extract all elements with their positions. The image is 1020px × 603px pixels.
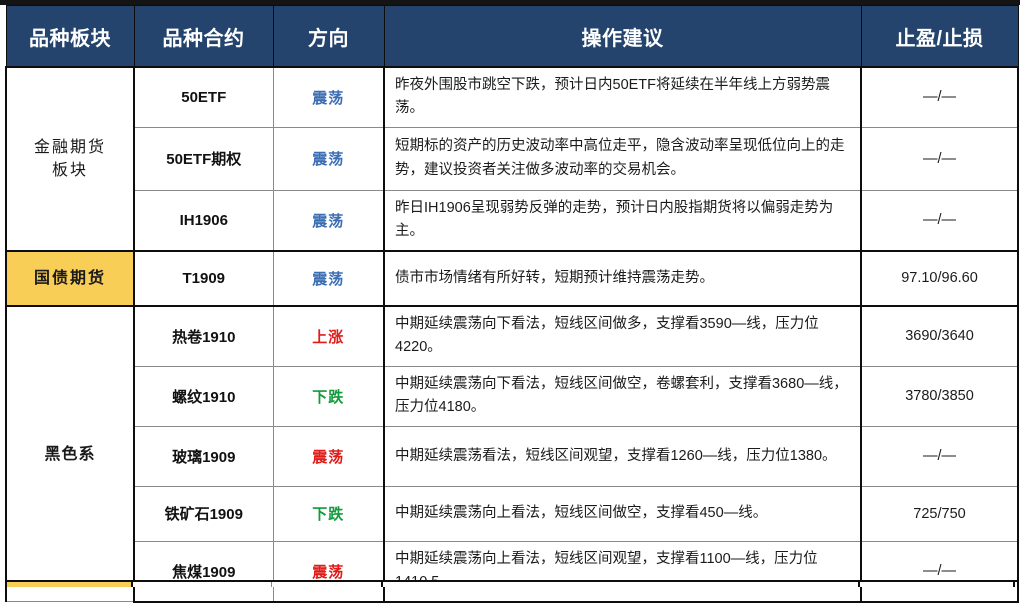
next-section-advice-cell	[383, 582, 860, 587]
table-header: 品种板块 品种合约 方向 操作建议 止盈/止损	[6, 6, 1018, 68]
table-row: 国债期货T1909震荡债市市场情绪有所好转，短期预计维持震荡走势。97.10/9…	[6, 251, 1018, 306]
table-row: 焦煤1909震荡中期延续震荡向上看法，短线区间观望，支撑看1100—线，压力位1…	[6, 541, 1018, 601]
advice-cell: 中期延续震荡向下看法，短线区间做空，卷螺套利，支撑看3680—线，压力位4180…	[384, 366, 861, 426]
sector-label-line-2: 板块	[8, 159, 132, 182]
contract-cell: T1909	[134, 251, 273, 306]
stoploss-cell: 725/750	[861, 486, 1018, 541]
contract-cell: 铁矿石1909	[134, 486, 273, 541]
column-header-direction: 方向	[273, 6, 384, 68]
stoploss-cell: —/—	[861, 67, 1018, 127]
contract-cell: IH1906	[134, 190, 273, 250]
column-header-contract: 品种合约	[134, 6, 273, 68]
advice-cell: 短期标的资产的历史波动率中高位走平，隐含波动率呈现低位向上的走势，建议投资者关注…	[384, 127, 861, 190]
direction-cell: 震荡	[273, 127, 384, 190]
direction-cell: 下跌	[273, 366, 384, 426]
stoploss-cell: —/—	[861, 127, 1018, 190]
advice-cell: 中期延续震荡向上看法，短线区间做空，支撑看450—线。	[384, 486, 861, 541]
next-section-contract-cell	[133, 582, 272, 587]
contract-cell: 50ETF	[134, 67, 273, 127]
contract-cell: 螺纹1910	[134, 366, 273, 426]
sector-cell: 黑色系	[6, 306, 134, 602]
sector-cell: 金融期货板块	[6, 67, 134, 251]
column-header-sector: 品种板块	[6, 6, 134, 68]
stoploss-cell: —/—	[861, 190, 1018, 250]
table-row: 铁矿石1909下跌中期延续震荡向上看法，短线区间做空，支撑看450—线。725/…	[6, 486, 1018, 541]
contract-cell: 焦煤1909	[134, 541, 273, 601]
advice-cell: 中期延续震荡向下看法，短线区间做多，支撑看3590—线，压力位4220。	[384, 306, 861, 366]
advice-cell: 债市市场情绪有所好转，短期预计维持震荡走势。	[384, 251, 861, 306]
direction-cell: 震荡	[273, 190, 384, 250]
advice-cell: 昨夜外围股市跳空下跌，预计日内50ETF将延续在半年线上方弱势震荡。	[384, 67, 861, 127]
sector-cell: 国债期货	[6, 251, 134, 306]
next-section-clipped-row	[5, 580, 1017, 587]
direction-cell: 下跌	[273, 486, 384, 541]
next-section-sector-cell	[5, 582, 133, 587]
contract-cell: 热卷1910	[134, 306, 273, 366]
stoploss-cell: 97.10/96.60	[861, 251, 1018, 306]
advice-cell: 中期延续震荡向上看法，短线区间观望，支撑看1100—线，压力位1410.5。	[384, 541, 861, 601]
table-row: 玻璃1909震荡中期延续震荡看法，短线区间观望，支撑看1260—线，压力位138…	[6, 426, 1018, 486]
next-section-stoploss-cell	[860, 582, 1015, 587]
table-header-row: 品种板块 品种合约 方向 操作建议 止盈/止损	[6, 6, 1018, 68]
stoploss-cell: —/—	[861, 541, 1018, 601]
report-sheet: 品种板块 品种合约 方向 操作建议 止盈/止损 金融期货板块50ETF震荡昨夜外…	[0, 0, 1020, 587]
table-row: 螺纹1910下跌中期延续震荡向下看法，短线区间做空，卷螺套利，支撑看3680—线…	[6, 366, 1018, 426]
contract-cell: 玻璃1909	[134, 426, 273, 486]
sector-label-line-1: 金融期货	[8, 136, 132, 159]
advice-cell: 中期延续震荡看法，短线区间观望，支撑看1260—线，压力位1380。	[384, 426, 861, 486]
advice-cell: 昨日IH1906呈现弱势反弹的走势，预计日内股指期货将以偏弱走势为主。	[384, 190, 861, 250]
next-section-direction-cell	[272, 582, 383, 587]
direction-cell: 震荡	[273, 251, 384, 306]
table-row: 黑色系热卷1910上涨中期延续震荡向下看法，短线区间做多，支撑看3590—线，压…	[6, 306, 1018, 366]
stoploss-cell: 3690/3640	[861, 306, 1018, 366]
table-body: 金融期货板块50ETF震荡昨夜外围股市跳空下跌，预计日内50ETF将延续在半年线…	[6, 67, 1018, 602]
table-row: IH1906震荡昨日IH1906呈现弱势反弹的走势，预计日内股指期货将以偏弱走势…	[6, 190, 1018, 250]
trading-recommendation-table: 品种板块 品种合约 方向 操作建议 止盈/止损 金融期货板块50ETF震荡昨夜外…	[5, 5, 1019, 603]
column-header-advice: 操作建议	[384, 6, 861, 68]
stoploss-cell: 3780/3850	[861, 366, 1018, 426]
contract-cell: 50ETF期权	[134, 127, 273, 190]
table-row: 金融期货板块50ETF震荡昨夜外围股市跳空下跌，预计日内50ETF将延续在半年线…	[6, 67, 1018, 127]
direction-cell: 震荡	[273, 67, 384, 127]
direction-cell: 震荡	[273, 541, 384, 601]
table-row: 50ETF期权震荡短期标的资产的历史波动率中高位走平，隐含波动率呈现低位向上的走…	[6, 127, 1018, 190]
direction-cell: 上涨	[273, 306, 384, 366]
stoploss-cell: —/—	[861, 426, 1018, 486]
direction-cell: 震荡	[273, 426, 384, 486]
column-header-stoploss: 止盈/止损	[861, 6, 1018, 68]
